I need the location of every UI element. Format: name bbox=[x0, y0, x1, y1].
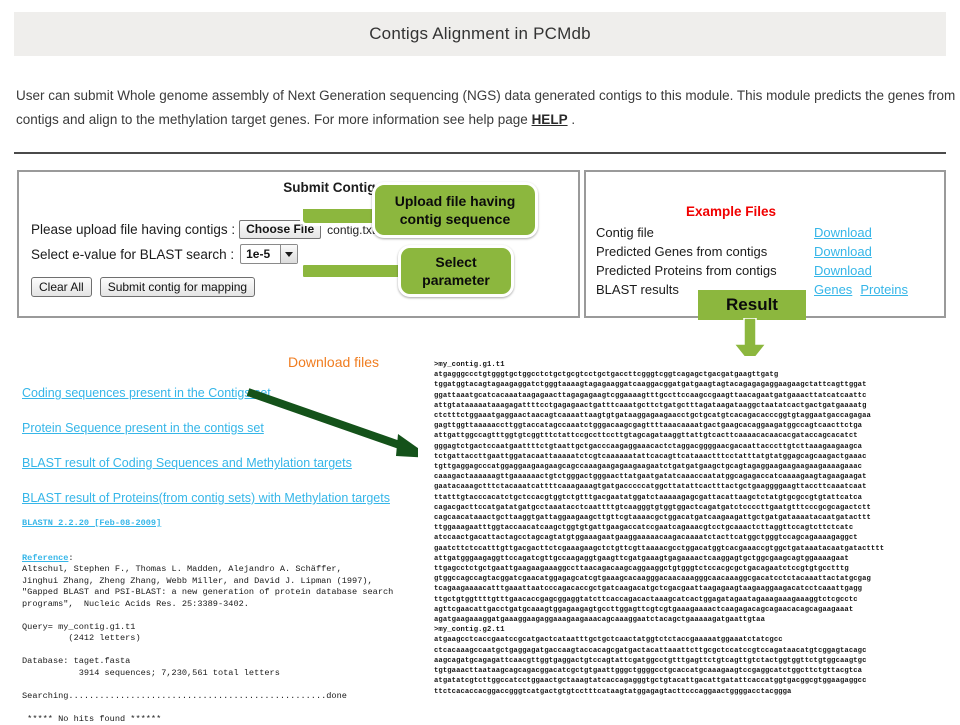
callout-result-label: Result bbox=[726, 296, 778, 314]
horizontal-divider bbox=[14, 152, 946, 154]
download-link-predicted-proteins[interactable]: Download bbox=[814, 263, 872, 278]
evalue-selected-value: 1e-5 bbox=[241, 245, 280, 263]
table-row: Contig file Download bbox=[596, 224, 936, 243]
page-header-banner: Contigs Alignment in PCMdb bbox=[14, 12, 946, 56]
upload-file-label: Please upload file having contigs : bbox=[31, 222, 235, 237]
example-files-title: Example Files bbox=[586, 204, 876, 219]
page-title: Contigs Alignment in PCMdb bbox=[369, 24, 591, 44]
sequence-output-text: >my_contig.g1.t1 atgagggccctgtgggtgctggc… bbox=[418, 356, 960, 697]
blast-database-line: Database: taget.fasta bbox=[22, 656, 130, 666]
callout-select-line2: parameter bbox=[422, 271, 490, 289]
blast-no-hits-line: ***** No hits found ****** bbox=[22, 714, 161, 724]
intro-text-tail: . bbox=[568, 112, 576, 127]
submit-panel-title: Submit Contigs bbox=[19, 180, 383, 195]
clear-all-button[interactable]: Clear All bbox=[31, 277, 92, 297]
intro-paragraph: User can submit Whole genome assembly of… bbox=[16, 84, 960, 132]
pointing-arrow-icon bbox=[246, 386, 436, 471]
link-blast-proteins[interactable]: BLAST result of Proteins(from contig set… bbox=[22, 491, 382, 505]
blast-reference-body: Altschul, Stephen F., Thomas L. Madden, … bbox=[22, 564, 393, 609]
blast-database-stats: 3914 sequences; 7,230,561 total letters bbox=[22, 668, 280, 678]
example-row-links: Download bbox=[814, 262, 936, 281]
evalue-row: Select e-value for BLAST search : 1e-5 bbox=[31, 244, 298, 264]
callout-select-tail bbox=[300, 262, 407, 280]
blast-searching-line: Searching...............................… bbox=[22, 691, 347, 701]
download-link-contig-file[interactable]: Download bbox=[814, 225, 872, 240]
table-row: Predicted Proteins from contigs Download bbox=[596, 262, 936, 281]
evalue-select[interactable]: 1e-5 bbox=[240, 244, 298, 264]
callout-select-parameter: Select parameter bbox=[398, 245, 514, 297]
example-row-label: Predicted Proteins from contigs bbox=[596, 262, 814, 281]
blast-query-line: Query= my_contig.g1.t1 bbox=[22, 622, 135, 632]
callout-upload-line2: contig sequence bbox=[400, 210, 510, 228]
example-row-links: Download bbox=[814, 224, 936, 243]
blast-report-output: BLASTN 2.2.20 [Feb-08-2009] Reference: A… bbox=[22, 518, 412, 725]
download-files-heading: Download files bbox=[288, 354, 379, 370]
blast-results-genes-link[interactable]: Genes bbox=[814, 282, 852, 297]
table-row: Predicted Genes from contigs Download bbox=[596, 243, 936, 262]
intro-text: User can submit Whole genome assembly of… bbox=[16, 88, 955, 127]
blast-query-letters: (2412 letters) bbox=[22, 633, 141, 643]
blast-results-proteins-link[interactable]: Proteins bbox=[860, 282, 908, 297]
callout-result: Result bbox=[698, 290, 806, 320]
form-button-row: Clear All Submit contig for mapping bbox=[31, 277, 255, 297]
blast-reference-label: Reference bbox=[22, 553, 68, 563]
callout-select-line1: Select bbox=[435, 253, 476, 271]
example-row-links: Download bbox=[814, 243, 936, 262]
help-link[interactable]: HELP bbox=[532, 112, 568, 127]
blast-version: BLASTN 2.2.20 [Feb-08-2009] bbox=[22, 518, 161, 528]
callout-upload-line1: Upload file having bbox=[395, 192, 516, 210]
example-row-label: Predicted Genes from contigs bbox=[596, 243, 814, 262]
callout-upload-tail bbox=[300, 206, 383, 226]
example-row-links: GenesProteins bbox=[814, 281, 936, 300]
example-row-label: Contig file bbox=[596, 224, 814, 243]
callout-upload-file: Upload file having contig sequence bbox=[372, 182, 538, 238]
sequence-output-panel[interactable]: >my_contig.g1.t1 atgagggccctgtgggtgctggc… bbox=[418, 356, 960, 720]
example-files-table: Contig file Download Predicted Genes fro… bbox=[596, 224, 936, 300]
download-link-predicted-genes[interactable]: Download bbox=[814, 244, 872, 259]
submit-contig-button[interactable]: Submit contig for mapping bbox=[100, 277, 255, 297]
evalue-label: Select e-value for BLAST search : bbox=[31, 247, 234, 262]
chevron-down-icon bbox=[280, 245, 297, 263]
